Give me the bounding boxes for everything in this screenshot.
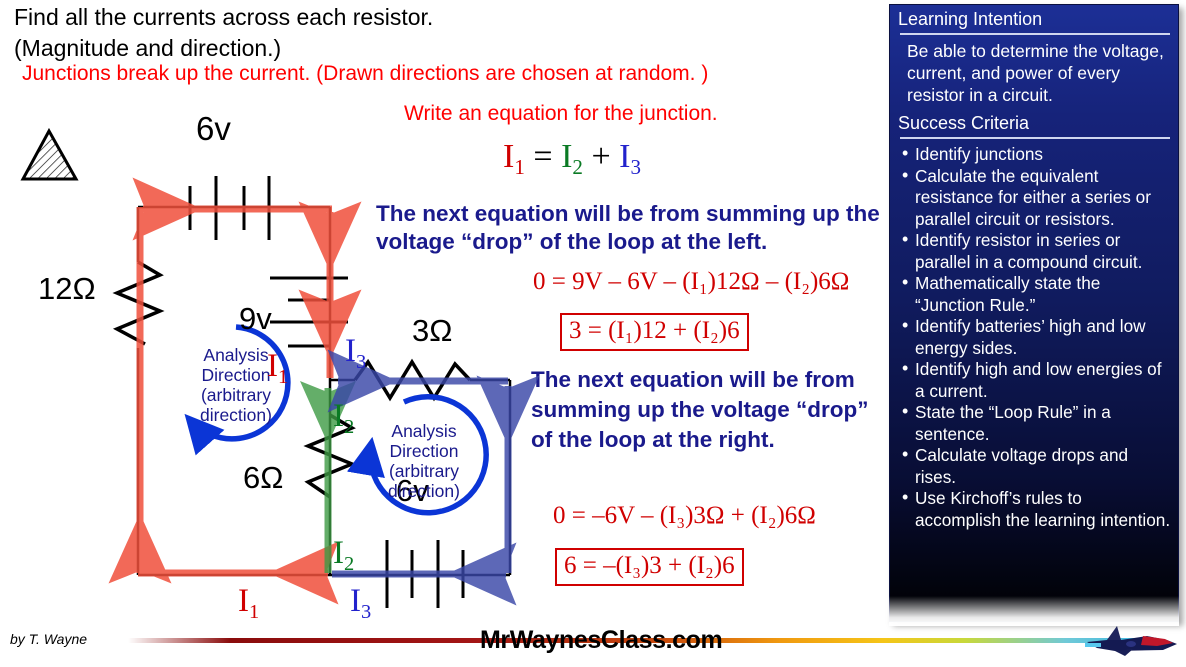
success-criteria-title: Success Criteria xyxy=(898,112,1172,135)
left-loop-equation: 0 = 9V – 6V – (I₁)12Ω – (I₂)6Ω xyxy=(533,268,849,296)
i3-subscript-bottom: 3 xyxy=(361,601,371,623)
junction-eq-i3-sub: 3 xyxy=(630,155,641,179)
list-item: Mathematically state the “Junction Rule.… xyxy=(898,273,1172,316)
list-item: Identify high and low energies of a curr… xyxy=(898,359,1172,402)
i3-subscript: 3 xyxy=(356,351,366,373)
i1-letter: I xyxy=(267,348,278,384)
list-item: Use Kirchoff’s rules to accomplish the l… xyxy=(898,488,1172,531)
panel-divider-2 xyxy=(900,137,1170,139)
left-loop-equation-boxed: 3 = (I₁)12 + (I₂)6 xyxy=(560,313,749,351)
panel-divider-1 xyxy=(900,33,1170,35)
success-criteria-list: Identify junctions Calculate the equival… xyxy=(898,144,1172,531)
junction-eq-i2-sub: 2 xyxy=(572,155,583,179)
list-item: Identify resistor in series or parallel … xyxy=(898,230,1172,273)
list-item: Identify junctions xyxy=(898,144,1172,166)
label-battery-6v-top: 6v xyxy=(196,110,231,148)
current-label-i3-middle: I3 xyxy=(345,333,366,374)
label-resistor-3ohm: 3Ω xyxy=(412,313,452,349)
i1-letter-bottom: I xyxy=(238,583,249,619)
learning-intention-title: Learning Intention xyxy=(898,8,1172,31)
current-label-i2-upper: I2 xyxy=(333,398,354,439)
i3-letter-bottom: I xyxy=(350,583,361,619)
loop-right-instruction: The next equation will be from summing u… xyxy=(531,365,886,455)
site-name: MrWaynesClass.com xyxy=(480,626,722,655)
current-label-i2-lower: I2 xyxy=(333,535,354,576)
list-item: Calculate voltage drops and rises. xyxy=(898,445,1172,488)
learning-intention-body: Be able to determine the voltage, curren… xyxy=(898,40,1172,112)
junction-eq-plus: + xyxy=(591,138,610,175)
learning-panel: Learning Intention Be able to determine … xyxy=(889,4,1179,622)
i2-letter-lower: I xyxy=(333,535,344,571)
right-loop-equation-boxed: 6 = –(I₃)3 + (I₂)6 xyxy=(555,548,744,586)
list-item: Identify batteries’ high and low energy … xyxy=(898,316,1172,359)
junction-eq-i2: I xyxy=(561,138,572,175)
rocket-car-logo-icon xyxy=(1085,618,1181,663)
i1-subscript: 1 xyxy=(278,366,288,388)
right-loop-equation: 0 = –6V – (I₃)3Ω + (I₂)6Ω xyxy=(553,502,816,530)
i2-subscript-lower: 2 xyxy=(344,553,354,575)
label-battery-9v: 9v xyxy=(239,301,272,337)
i1-subscript-bottom: 1 xyxy=(249,601,259,623)
circuit-diagram xyxy=(0,0,560,640)
current-label-i3-bottom: I3 xyxy=(350,583,371,624)
i3-letter: I xyxy=(345,333,356,369)
byline: by T. Wayne xyxy=(10,631,87,647)
analysis-direction-label-right: Analysis Direction (arbitrary direction) xyxy=(378,421,470,501)
list-item: Calculate the equivalent resistance for … xyxy=(898,166,1172,231)
junction-eq-i3: I xyxy=(619,138,630,175)
label-resistor-6ohm: 6Ω xyxy=(243,460,283,496)
list-item: State the “Loop Rule” in a sentence. xyxy=(898,402,1172,445)
i2-subscript-upper: 2 xyxy=(344,416,354,438)
battery-9v-symbol xyxy=(270,278,348,346)
current-label-i1-middle: I1 xyxy=(267,348,288,389)
label-resistor-12ohm: 12Ω xyxy=(38,271,96,307)
i2-letter-upper: I xyxy=(333,398,344,434)
current-label-i1-bottom: I1 xyxy=(238,583,259,624)
